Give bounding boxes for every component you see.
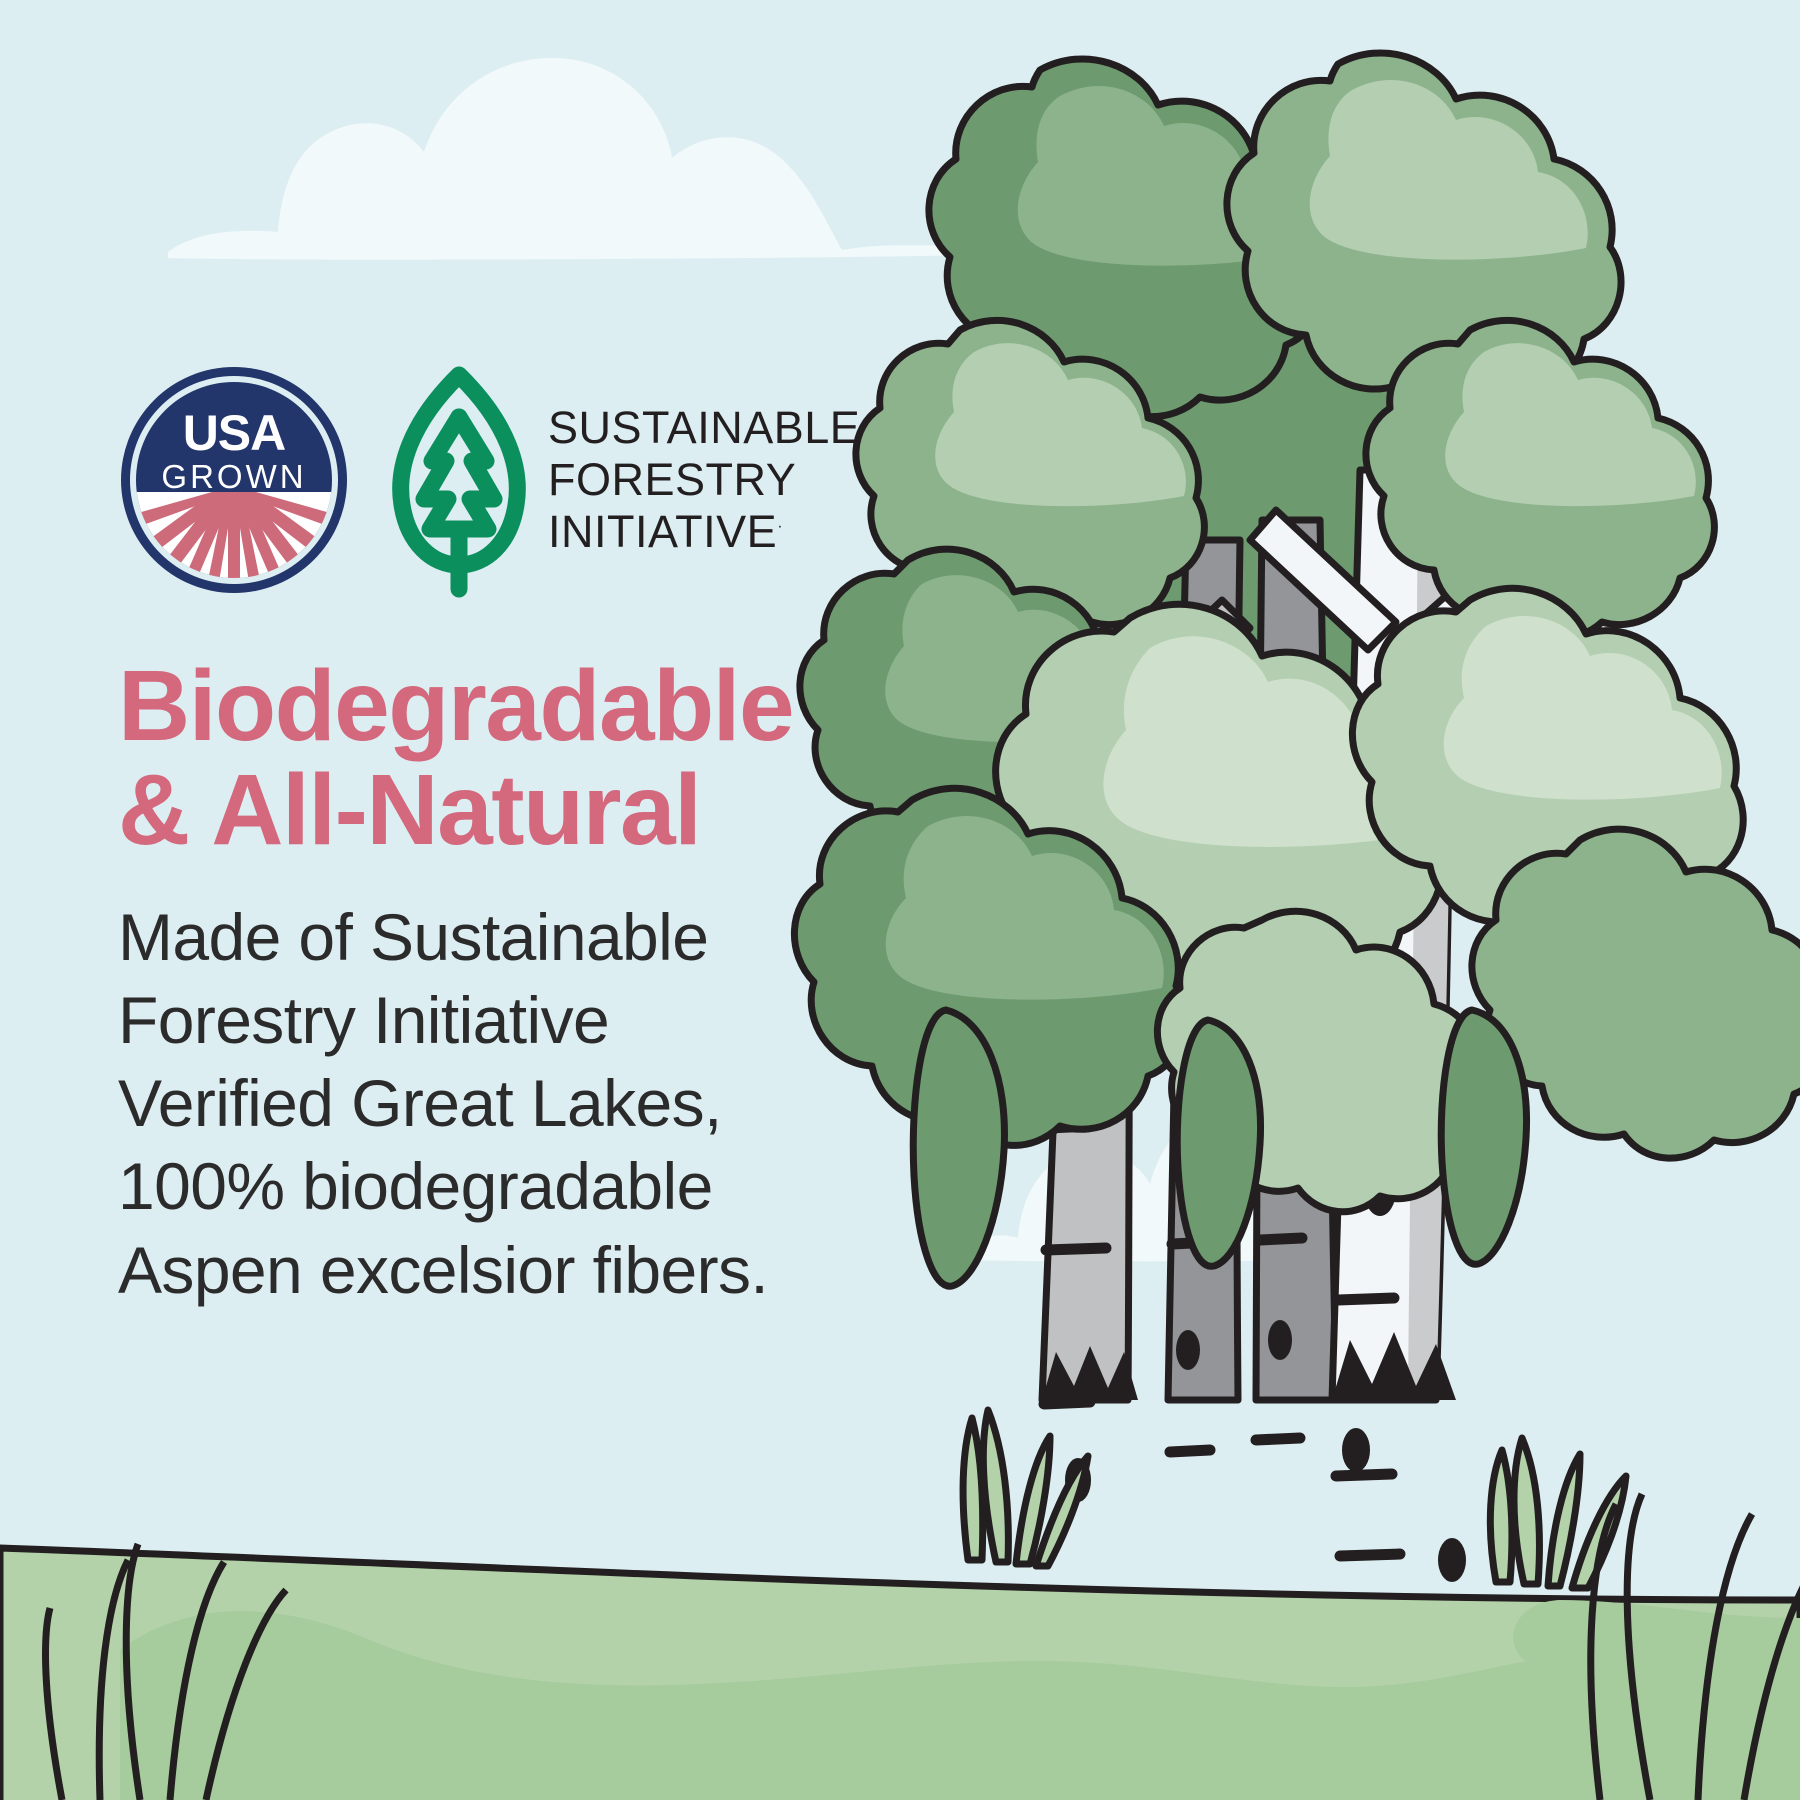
usa-badge-line1: USA — [183, 405, 286, 461]
certification-badges: USA GROWN — [118, 360, 918, 600]
content-column: USA GROWN — [118, 360, 918, 1312]
body-line-4: 100% biodegradable — [118, 1145, 918, 1228]
body-line-3: Verified Great Lakes, — [118, 1062, 918, 1145]
usa-badge-line2: GROWN — [161, 458, 306, 495]
sfi-line-3: INITIATIVE· — [548, 506, 860, 558]
headline-line-1: Biodegradable — [118, 654, 918, 758]
body-line-2: Forestry Initiative — [118, 979, 918, 1062]
sfi-line-3-text: INITIATIVE — [548, 506, 777, 557]
headline-line-2: & All-Natural — [118, 758, 918, 862]
sfi-leaf-icon — [388, 361, 530, 599]
sfi-line-1: SUSTAINABLE — [548, 402, 860, 454]
poster-canvas: USA GROWN — [0, 0, 1800, 1800]
body-line-5: Aspen excelsior fibers. — [118, 1229, 918, 1312]
page-title: Biodegradable & All-Natural — [118, 654, 918, 862]
sfi-line-2: FORESTRY — [548, 454, 860, 506]
body-copy: Made of Sustainable Forestry Initiative … — [118, 896, 918, 1312]
sfi-wordmark: SUSTAINABLE FORESTRY INITIATIVE· — [548, 402, 860, 559]
body-line-1: Made of Sustainable — [118, 896, 918, 979]
sfi-logo-lockup: SUSTAINABLE FORESTRY INITIATIVE· — [388, 361, 860, 599]
usa-grown-badge-icon: USA GROWN — [118, 364, 350, 596]
root-flare-left — [1042, 1346, 1138, 1400]
sfi-trademark: · — [777, 518, 783, 535]
